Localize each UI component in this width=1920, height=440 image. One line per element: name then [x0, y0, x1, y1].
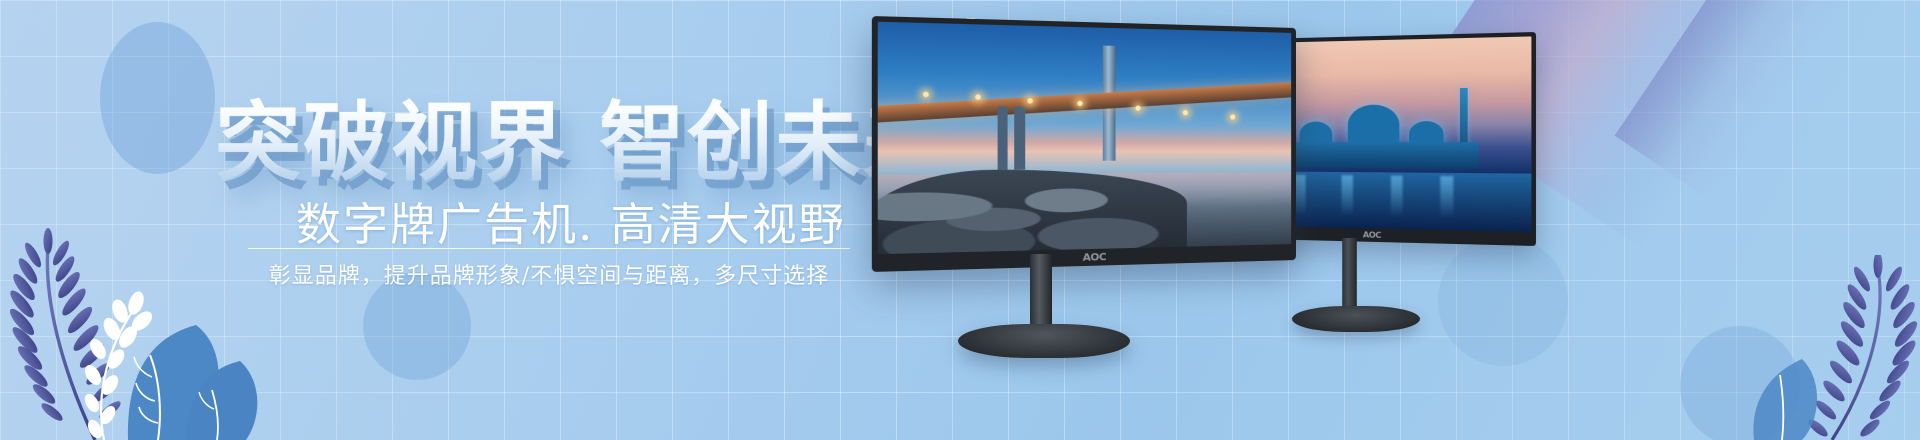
front-monitor-bezel: AOC: [872, 16, 1296, 272]
text-divider: [248, 248, 850, 249]
front-monitor-stand-base: [958, 324, 1130, 358]
fern-leaf-right-icon: [1710, 255, 1920, 440]
bridge-photo-icon: [878, 22, 1291, 254]
front-monitor-screen: [878, 22, 1291, 254]
front-monitor-stand-neck: [1030, 254, 1052, 334]
promo-banner: 突破视界 智创未来 数字牌广告机. 高清大视野 彰显品牌，提升品牌形象/不惧空间…: [0, 0, 1920, 440]
back-monitor-stand-base: [1292, 306, 1420, 332]
banner-subtitle: 数字牌广告机. 高清大视野: [296, 188, 846, 253]
fern-leaf-cluster-icon: [0, 225, 290, 440]
back-monitor-brand-logo: AOC: [1363, 230, 1381, 240]
front-monitor-brand-logo: AOC: [1083, 252, 1106, 264]
front-monitor: AOC: [880, 28, 1300, 378]
banner-tagline: 彰显品牌，提升品牌形象/不惧空间与距离，多尺寸选择: [249, 258, 849, 290]
banner-headline: 突破视界 智创未来: [215, 72, 951, 197]
back-monitor-stand-neck: [1342, 238, 1357, 310]
